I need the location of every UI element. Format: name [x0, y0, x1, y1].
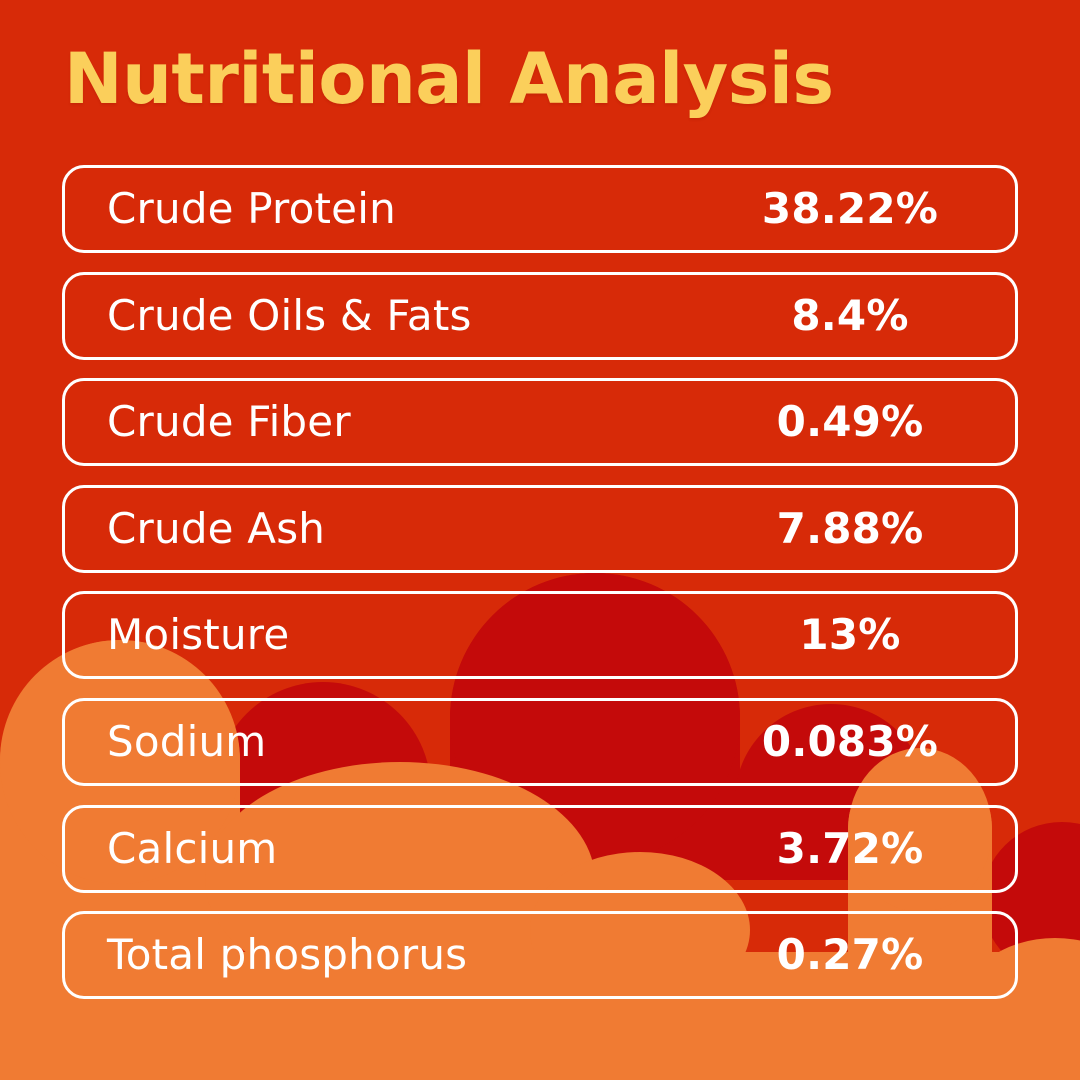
table-row: Crude Oils & Fats 8.4%: [62, 272, 1018, 360]
nutrient-value: 0.49%: [725, 401, 975, 443]
table-row: Crude Ash 7.88%: [62, 485, 1018, 573]
table-row: Sodium 0.083%: [62, 698, 1018, 786]
nutrient-value: 0.083%: [725, 721, 975, 763]
nutrient-value: 3.72%: [725, 828, 975, 870]
nutrient-label: Crude Oils & Fats: [107, 295, 472, 337]
nutrient-value: 13%: [725, 614, 975, 656]
nutrient-value: 38.22%: [725, 188, 975, 230]
table-row: Moisture 13%: [62, 591, 1018, 679]
table-row: Calcium 3.72%: [62, 805, 1018, 893]
nutrient-label: Moisture: [107, 614, 289, 656]
table-row: Crude Fiber 0.49%: [62, 378, 1018, 466]
nutrient-value: 0.27%: [725, 934, 975, 976]
table-row: Crude Protein 38.22%: [62, 165, 1018, 253]
nutrient-label: Calcium: [107, 828, 277, 870]
nutrient-label: Crude Protein: [107, 188, 396, 230]
nutrient-value: 8.4%: [725, 295, 975, 337]
nutrient-label: Total phosphorus: [107, 934, 467, 976]
nutrition-table: Crude Protein 38.22% Crude Oils & Fats 8…: [62, 165, 1018, 1018]
page-title: Nutritional Analysis: [64, 44, 834, 114]
nutrient-label: Crude Ash: [107, 508, 325, 550]
table-row: Total phosphorus 0.27%: [62, 911, 1018, 999]
nutrient-label: Crude Fiber: [107, 401, 351, 443]
infographic-canvas: Nutritional Analysis Crude Protein 38.22…: [0, 0, 1080, 1080]
nutrient-label: Sodium: [107, 721, 266, 763]
nutrient-value: 7.88%: [725, 508, 975, 550]
